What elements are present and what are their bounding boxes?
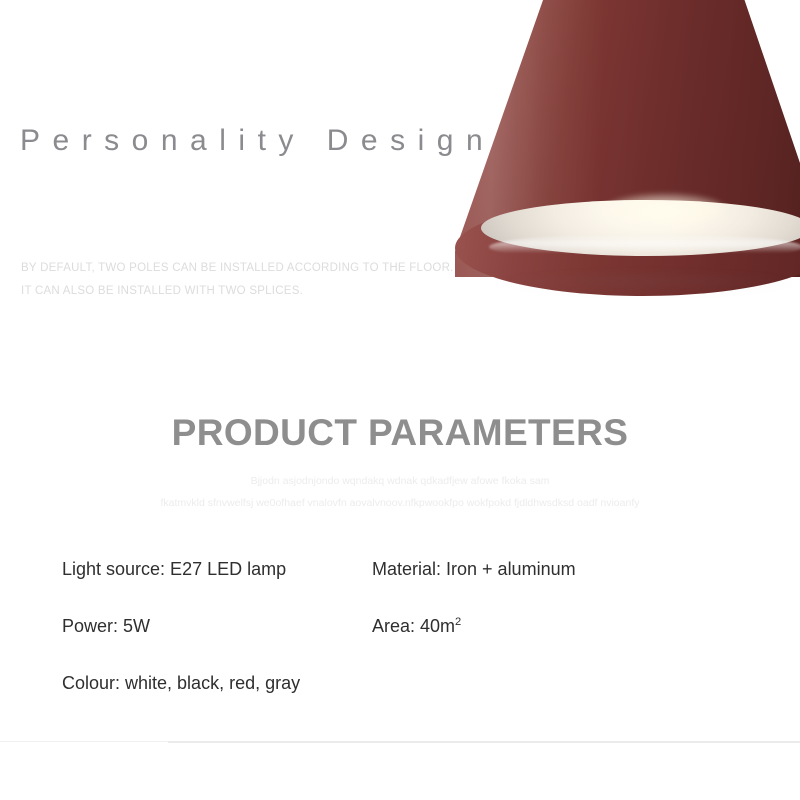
hero-caption-line-1: BY DEFAULT, TWO POLES CAN BE INSTALLED A…: [21, 257, 454, 280]
spec-colour: Colour: white, black, red, gray: [62, 672, 372, 695]
lamp-bulb-glow: [605, 194, 725, 224]
section-subtext: Bjjodn asjodnjondo wqndakq wdnak qdkadfj…: [0, 470, 800, 514]
footer-divider: [0, 741, 800, 743]
spec-light-source: Light source: E27 LED lamp: [62, 558, 372, 581]
pendant-lamp-image: [455, 0, 800, 302]
section-subtext-line-1: Bjjodn asjodnjondo wqndakq wdnak qdkadfj…: [0, 470, 800, 492]
spec-material: Material: Iron + aluminum: [372, 558, 682, 581]
divider-segment-left: [0, 741, 168, 742]
spec-area: Area: 40m2: [372, 615, 682, 638]
lamp-rim-specular: [489, 234, 800, 260]
specification-list: Light source: E27 LED lamp Material: Iro…: [62, 558, 682, 729]
spec-power: Power: 5W: [62, 615, 372, 638]
spec-area-text: Area: 40m: [372, 616, 455, 636]
hero-title: Personality Design: [20, 124, 495, 158]
spec-row: Light source: E27 LED lamp Material: Iro…: [62, 558, 682, 615]
product-detail-page: Personality Design BY DEFAULT, TWO POLES…: [0, 0, 800, 800]
section-heading: PRODUCT PARAMETERS: [0, 412, 800, 454]
lamp-drop-shadow: [499, 274, 799, 294]
spec-row: Colour: white, black, red, gray: [62, 672, 682, 729]
hero-caption: BY DEFAULT, TWO POLES CAN BE INSTALLED A…: [21, 257, 454, 303]
spec-area-superscript: 2: [455, 616, 461, 628]
hero-caption-line-2: IT CAN ALSO BE INSTALLED WITH TWO SPLICE…: [21, 280, 454, 303]
divider-segment-right: [168, 741, 800, 743]
spec-row: Power: 5W Area: 40m2: [62, 615, 682, 672]
section-subtext-line-2: fkatmvkld sfnvwelfsj we0ofhaef vnalovfn …: [0, 492, 800, 514]
